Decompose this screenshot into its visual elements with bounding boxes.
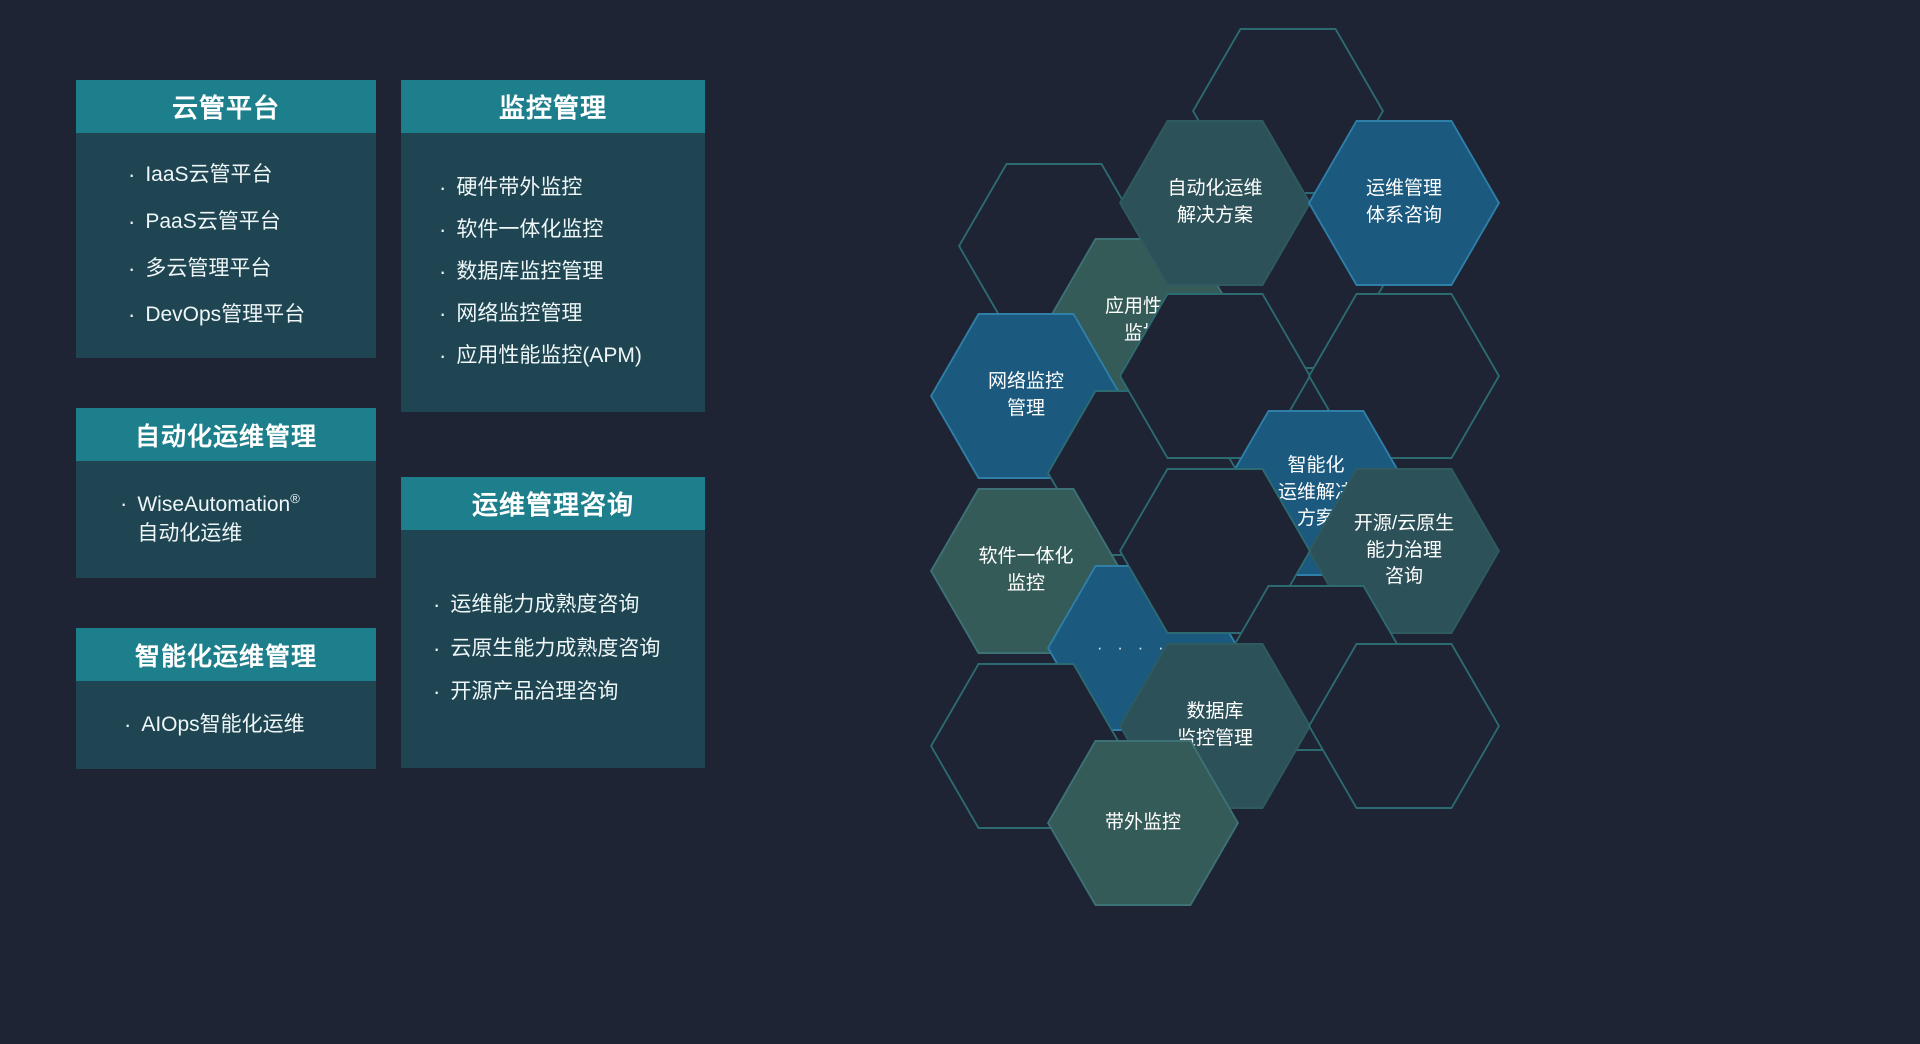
list-item: · PaaS云管平台 bbox=[128, 208, 360, 237]
list-item-label: 应用性能监控(APM) bbox=[456, 342, 693, 371]
card-automation-ops-management: 自动化运维管理 · WiseAutomation® 自动化运维 bbox=[76, 408, 376, 578]
list-item: · DevOps管理平台 bbox=[128, 301, 360, 330]
list-item-label: AIOps智能化运维 bbox=[141, 711, 364, 740]
list-item-label: 多云管理平台 bbox=[145, 255, 360, 284]
bullet-dot-icon: · bbox=[124, 711, 131, 739]
list-item-label: 运维能力成熟度咨询 bbox=[450, 591, 691, 620]
bullet-dot-icon: · bbox=[439, 258, 446, 286]
hex-opensrc-label: 开源/云原生能力治理咨询 bbox=[1345, 511, 1463, 592]
list-item: · 云原生能力成熟度咨询 bbox=[433, 635, 691, 664]
card-title-automation-ops-management: 自动化运维管理 bbox=[76, 408, 376, 461]
list-item: · 应用性能监控(APM) bbox=[439, 342, 693, 371]
list-item-label: 数据库监控管理 bbox=[456, 258, 693, 287]
list-item: · AIOps智能化运维 bbox=[124, 711, 364, 740]
list-item: · WiseAutomation® 自动化运维 bbox=[120, 490, 364, 549]
list-item: · 多云管理平台 bbox=[128, 255, 360, 284]
list-item-label-line2: 自动化运维 bbox=[137, 522, 242, 545]
bullet-dot-icon: · bbox=[128, 208, 135, 236]
hex-sw-mon-label: 软件一体化监控 bbox=[967, 544, 1085, 598]
card-title-intelligent-ops-management: 智能化运维管理 bbox=[76, 628, 376, 681]
list-item-label: 开源产品治理咨询 bbox=[450, 678, 691, 707]
card-body-monitoring-management: · 硬件带外监控 · 软件一体化监控 · 数据库监控管理 · 网络监控管理 · … bbox=[401, 133, 705, 412]
card-body-cloud-platform: · IaaS云管平台 · PaaS云管平台 · 多云管理平台 · DevOps管… bbox=[76, 133, 376, 358]
list-item: · 硬件带外监控 bbox=[439, 174, 693, 203]
list-item-label: DevOps管理平台 bbox=[145, 301, 360, 330]
bullet-dot-icon: · bbox=[439, 300, 446, 328]
card-title-monitoring-management: 监控管理 bbox=[401, 80, 705, 133]
hex-oob-mon-label: 带外监控 bbox=[1084, 810, 1202, 837]
list-item-label: WiseAutomation bbox=[137, 493, 290, 516]
slide-canvas: 云管平台 · IaaS云管平台 · PaaS云管平台 · 多云管理平台 · De… bbox=[0, 0, 1920, 1044]
bullet-dot-icon: · bbox=[433, 591, 440, 619]
list-item-label: 硬件带外监控 bbox=[456, 174, 693, 203]
card-cloud-platform: 云管平台 · IaaS云管平台 · PaaS云管平台 · 多云管理平台 · De… bbox=[76, 80, 376, 358]
bullet-dot-icon: · bbox=[439, 342, 446, 370]
card-ops-management-consulting: 运维管理咨询 · 运维能力成熟度咨询 · 云原生能力成熟度咨询 · 开源产品治理… bbox=[401, 477, 705, 768]
bullet-dot-icon: · bbox=[439, 216, 446, 244]
list-item-label: 云原生能力成熟度咨询 bbox=[450, 635, 691, 664]
list-item-label: 软件一体化监控 bbox=[456, 216, 693, 245]
hex-ops-sys-label: 运维管理体系咨询 bbox=[1345, 176, 1463, 230]
list-item: · 软件一体化监控 bbox=[439, 216, 693, 245]
list-item-label: IaaS云管平台 bbox=[145, 161, 360, 190]
bullet-dot-icon: · bbox=[120, 490, 127, 518]
list-item: · 运维能力成熟度咨询 bbox=[433, 591, 691, 620]
list-item-label: 网络监控管理 bbox=[456, 300, 693, 329]
card-body-ops-management-consulting: · 运维能力成熟度咨询 · 云原生能力成熟度咨询 · 开源产品治理咨询 bbox=[401, 530, 705, 768]
bullet-dot-icon: · bbox=[433, 635, 440, 663]
list-item: · 网络监控管理 bbox=[439, 300, 693, 329]
bullet-dot-icon: · bbox=[128, 255, 135, 283]
hex-auto-ops-label: 自动化运维解决方案 bbox=[1156, 176, 1274, 230]
hex-net-mon-label: 网络监控管理 bbox=[967, 369, 1085, 423]
card-body-intelligent-ops-management: · AIOps智能化运维 bbox=[76, 681, 376, 769]
bullet-dot-icon: · bbox=[433, 678, 440, 706]
bullet-dot-icon: · bbox=[128, 301, 135, 329]
list-item-label: PaaS云管平台 bbox=[145, 208, 360, 237]
registered-mark-icon: ® bbox=[290, 491, 300, 506]
bullet-dot-icon: · bbox=[439, 174, 446, 202]
list-item: · 数据库监控管理 bbox=[439, 258, 693, 287]
list-item: · 开源产品治理咨询 bbox=[433, 678, 691, 707]
card-body-automation-ops-management: · WiseAutomation® 自动化运维 bbox=[76, 461, 376, 578]
bullet-dot-icon: · bbox=[128, 161, 135, 189]
card-title-cloud-platform: 云管平台 bbox=[76, 80, 376, 133]
card-monitoring-management: 监控管理 · 硬件带外监控 · 软件一体化监控 · 数据库监控管理 · 网络监控… bbox=[401, 80, 705, 412]
list-item: · IaaS云管平台 bbox=[128, 161, 360, 190]
card-title-ops-management-consulting: 运维管理咨询 bbox=[401, 477, 705, 530]
hexagon-grid: 应用性能监控自动化运维解决方案运维管理体系咨询网络监控管理智能化运维解决方案开源… bbox=[930, 0, 1920, 1044]
card-intelligent-ops-management: 智能化运维管理 · AIOps智能化运维 bbox=[76, 628, 376, 769]
